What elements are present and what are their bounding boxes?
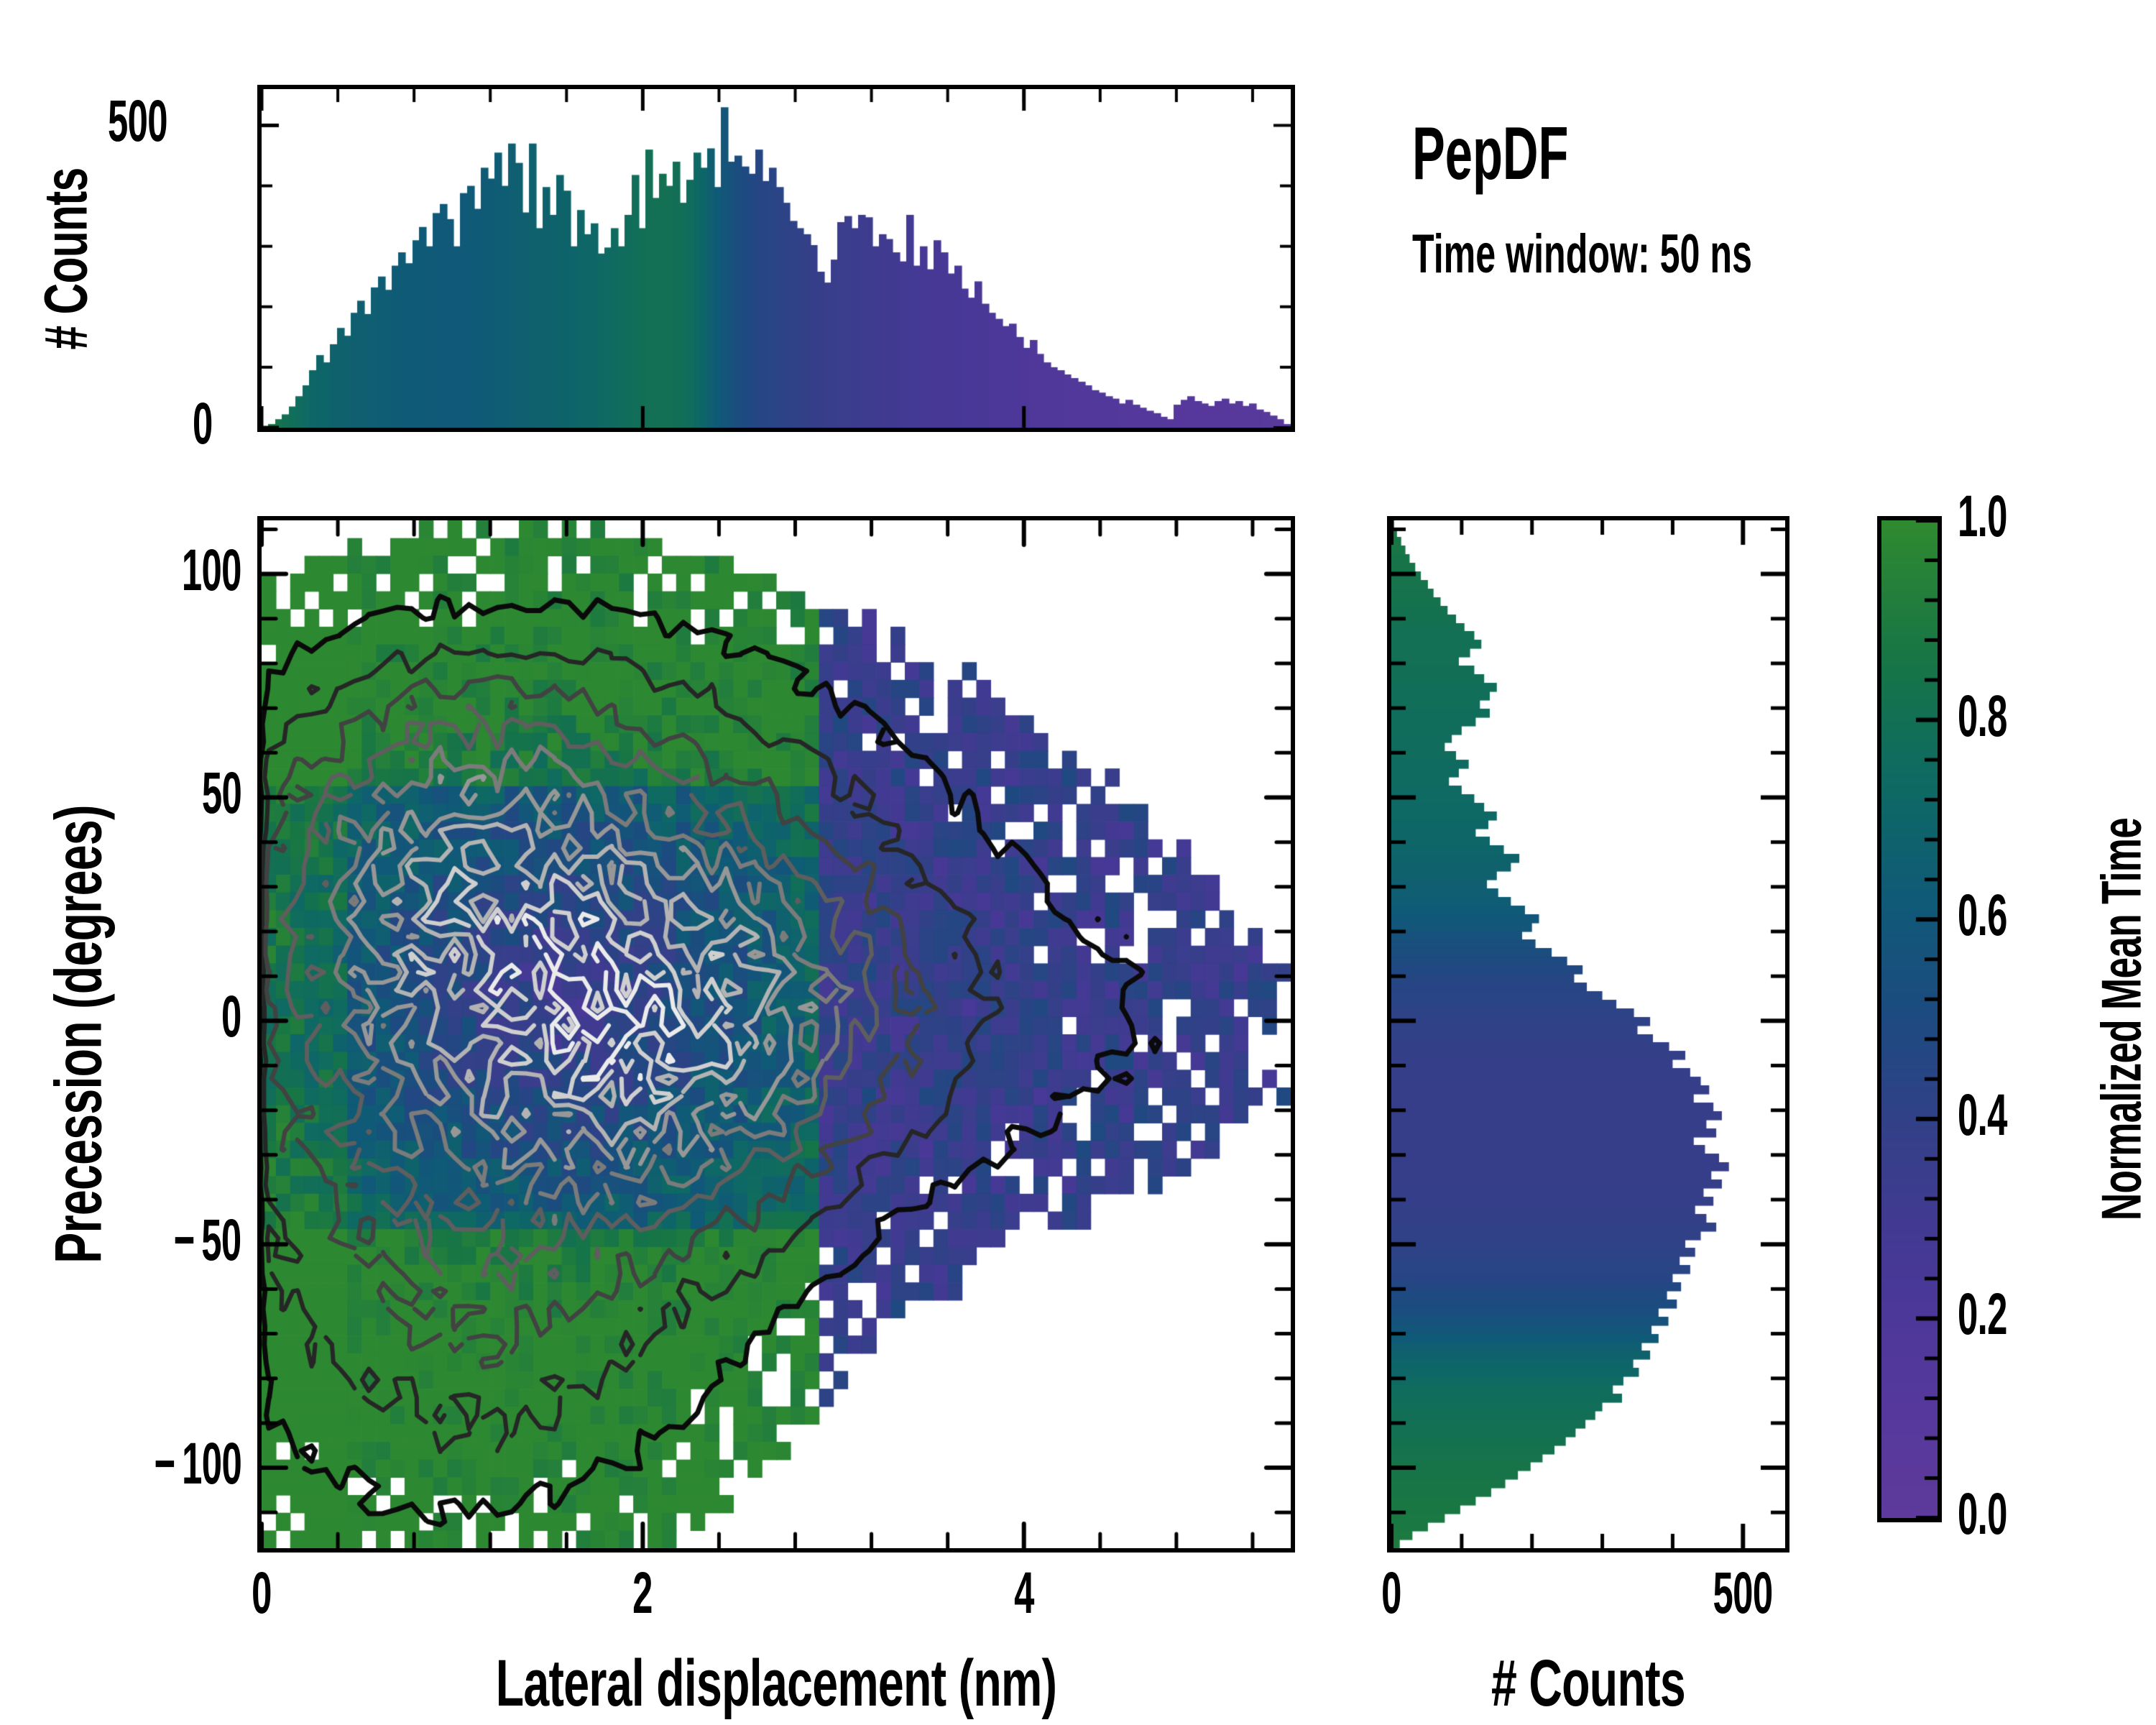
main-xtick-label-4: 4 [1014,1560,1034,1627]
main-ytick-label-100: 100 [182,537,241,604]
main-y-axis-label: Precession (degrees) [42,805,117,1263]
right-marginal-x-axis-label: # Counts [1491,1646,1685,1721]
right-marginal-canvas [1391,520,1785,1548]
main-xtick-label-2: 2 [633,1560,653,1627]
top-ytick-label-500: 500 [108,88,167,155]
colorbar-tick-label-0p6: 0.6 [1958,882,2007,949]
right-xtick-label-500: 500 [1713,1560,1773,1627]
colorbar-tick-label-1p0: 1.0 [1958,483,2007,551]
right-xtick-label-0: 0 [1381,1560,1401,1627]
right-marginal-panel [1387,516,1789,1552]
colorbar-label: Normalized Mean Time [2089,818,2155,1220]
colorbar-gradient-canvas [1881,520,1938,1518]
colorbar-tick-label-0p0: 0.0 [1958,1481,2007,1548]
time-window-annotation: Time window: 50 ns [1412,223,1752,285]
top-marginal-panel [257,85,1295,432]
main-ytick-label-minus100: − 100 [154,1430,241,1498]
colorbar-tick-label-0p8: 0.8 [1958,683,2007,750]
joint-distribution-figure: 500 0 # Counts Lateral displacement (nm)… [0,0,2156,1725]
main-x-axis-label: Lateral displacement (nm) [496,1646,1057,1721]
main-ytick-label-minus50: − 50 [174,1207,241,1274]
main-ytick-label-0: 0 [221,983,241,1051]
main-joint-heatmap-canvas [262,520,1291,1548]
top-marginal-canvas [262,89,1291,428]
colorbar [1877,516,1942,1522]
top-marginal-y-axis-label: # Counts [32,167,101,349]
plot-title: PepDF [1412,111,1568,197]
main-ytick-label-50: 50 [202,760,241,827]
main-joint-panel [257,516,1295,1552]
colorbar-tick-label-0p4: 0.4 [1958,1082,2007,1149]
top-ytick-label-0: 0 [193,390,213,458]
colorbar-tick-label-0p2: 0.2 [1958,1281,2007,1348]
main-xtick-label-0: 0 [252,1560,272,1627]
